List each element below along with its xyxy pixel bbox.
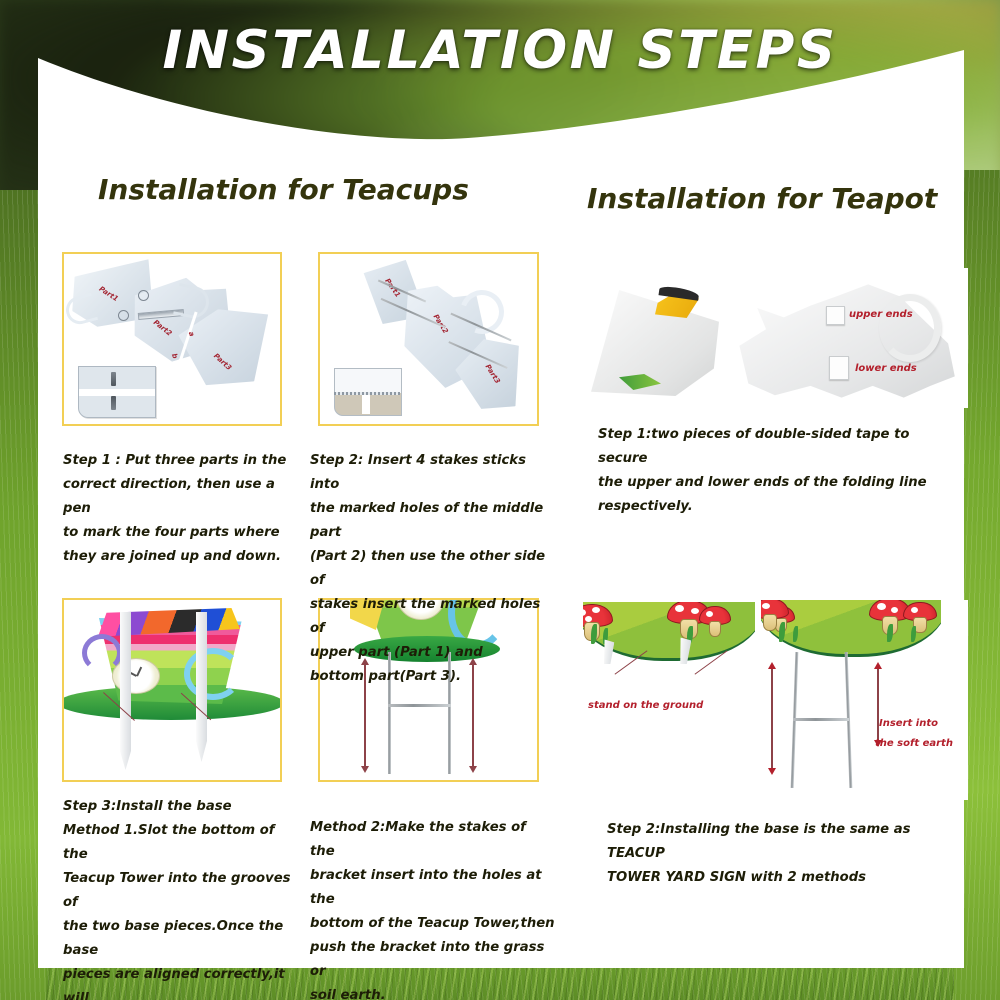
teapot-sign-photo-right	[761, 600, 941, 660]
panel-teacup-parts-layout: Part1 Part2 Part3 a b	[62, 252, 282, 426]
tape-square-lower	[829, 356, 849, 380]
base-slot-top	[111, 372, 116, 386]
section-heading-teapot: Installation for Teapot	[587, 182, 937, 215]
teapot-lid-piece	[591, 290, 719, 396]
caption-step2-teapot: Step 2:Installing the base is the same a…	[607, 818, 957, 890]
bracket-measure-left-head-bottom	[361, 766, 369, 773]
tower-base-piece-right	[196, 612, 207, 762]
caption-step1-teapot: Step 1:two pieces of double-sided tape t…	[598, 423, 948, 519]
mark-hole-lower	[118, 310, 129, 321]
bracket-measure-right-head-bottom	[469, 766, 477, 773]
panel-teacup-stakes-insert: Part1 Part2 Part3	[318, 252, 539, 426]
insert-soft-earth-line2: the soft earth	[875, 736, 953, 752]
insert-soft-earth-line1: Insert into	[879, 716, 938, 732]
caption-step2-teacups: Step 2: Insert 4 stakes sticks into the …	[310, 449, 558, 689]
mushroom-right-4	[903, 602, 935, 630]
soft-earth-wire-crossbar	[793, 718, 849, 721]
mushroom-left-3	[699, 606, 729, 634]
soft-earth-arrow-left-bottom	[768, 768, 776, 775]
tape-square-upper	[826, 306, 845, 325]
bracket-wire-crossbar	[388, 704, 451, 707]
stakes-base-gap	[362, 395, 370, 414]
teapot-handle-arc	[879, 294, 941, 362]
section-heading-teacups: Installation for Teacups	[98, 173, 469, 206]
upper-ends-label: upper ends	[849, 307, 913, 323]
soft-earth-arrow-right-top	[874, 662, 882, 669]
base-piece-inset	[78, 366, 156, 418]
panel-teapot-base-methods: stand on the ground	[583, 600, 968, 800]
mark-hole-upper	[138, 290, 149, 301]
teapot-sign-photo-left	[583, 602, 755, 664]
tower-swirl-blue	[184, 648, 242, 700]
tower-clock-face	[112, 658, 160, 694]
base-slot-bottom	[111, 396, 116, 410]
stand-on-ground-label: stand on the ground	[588, 698, 703, 714]
tower-base-piece-left	[120, 612, 131, 770]
panel-teapot-tape-ends: upper ends lower ends	[583, 268, 968, 408]
poster-canvas: INSTALLATION STEPS Installation for Teac…	[0, 0, 1000, 1000]
panel-teacup-tower-base-method1	[62, 598, 282, 782]
soft-earth-arrow-left-top	[768, 662, 776, 669]
lower-ends-label: lower ends	[855, 361, 917, 377]
soft-earth-measure-left	[771, 666, 773, 770]
caption-step3-teacups: Step 3:Install the base Method 1.Slot th…	[63, 795, 298, 1000]
caption-method2-teacups: Method 2:Make the stakes of the bracket …	[310, 816, 555, 1000]
caption-step1-teacups: Step 1 : Put three parts in the correct …	[63, 449, 293, 569]
